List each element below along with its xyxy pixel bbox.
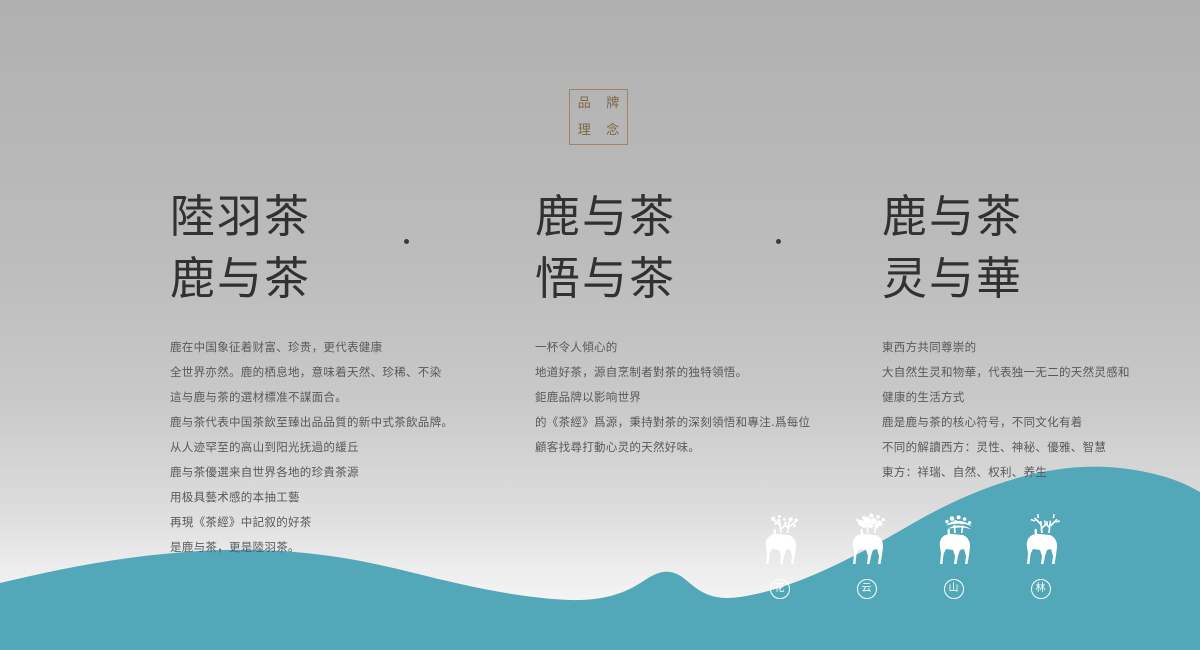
deer-label-hua: 花: [770, 579, 790, 599]
body-line: 大自然生灵和物華，代表独一无二的天然灵感和: [882, 360, 1132, 385]
deer-label-lin: 林: [1031, 579, 1051, 599]
deer-branch-icon: [754, 512, 806, 570]
body-line: 不同的解讀西方：灵性、神秘、優雅、智慧: [882, 435, 1132, 460]
column-3-headline: 鹿与茶 灵与華: [882, 186, 1132, 310]
deer-cloud-icon: [841, 512, 893, 570]
body-line: 鹿与茶優選来自世界各地的珍貴茶源: [170, 460, 460, 485]
headline-line: 陸羽茶: [170, 186, 460, 248]
column-2-body: 一杯令人傾心的 地道好茶，源自烹制者對茶的独特領悟。 鉅鹿品牌以影响世界 的《茶…: [535, 335, 825, 460]
deer-item-lin[interactable]: 林: [1013, 512, 1068, 599]
body-line: 鹿在中国象征着财富、珍贵，更代表健康: [170, 335, 460, 360]
deer-item-shan[interactable]: 山: [926, 512, 981, 599]
body-line: 東方：祥瑞、自然、权利、养生: [882, 460, 1132, 485]
body-line: 从人迹罕至的高山到阳光抚過的緩丘: [170, 435, 460, 460]
deer-icon-row: 花 云: [752, 512, 1068, 599]
content-column-3: 鹿与茶 灵与華 東西方共同尊崇的 大自然生灵和物華，代表独一无二的天然灵感和 健…: [882, 186, 1132, 485]
body-line: 的《茶經》爲源，秉持對茶的深刻領悟和專注.爲每位: [535, 410, 825, 435]
column-1-body: 鹿在中国象征着财富、珍贵，更代表健康 全世界亦然。鹿的栖息地，意味着天然、珍稀、…: [170, 335, 460, 560]
body-line: 地道好茶，源自烹制者對茶的独特領悟。: [535, 360, 825, 385]
deer-item-hua[interactable]: 花: [752, 512, 807, 599]
body-line: 用极具藝术感的本抽工藝: [170, 485, 460, 510]
deer-label-shan: 山: [944, 579, 964, 599]
divider-dot-2: [776, 239, 781, 244]
column-1-headline: 陸羽茶 鹿与茶: [170, 186, 460, 310]
column-2-headline: 鹿与茶 悟与茶: [535, 186, 825, 310]
body-line: 再現《茶經》中記叙的好茶: [170, 510, 460, 535]
headline-line: 鹿与茶: [535, 186, 825, 248]
body-line: 一杯令人傾心的: [535, 335, 825, 360]
deer-mountain-icon: [928, 512, 980, 570]
body-line: 鉅鹿品牌以影响世界: [535, 385, 825, 410]
content-column-2: 鹿与茶 悟与茶 一杯令人傾心的 地道好茶，源自烹制者對茶的独特領悟。 鉅鹿品牌以…: [535, 186, 825, 460]
headline-line: 灵与華: [882, 248, 1132, 310]
body-line: 健康的生活方式: [882, 385, 1132, 410]
deer-label-yun: 云: [857, 579, 877, 599]
divider-dot-1: [404, 239, 409, 244]
column-3-body: 東西方共同尊崇的 大自然生灵和物華，代表独一无二的天然灵感和 健康的生活方式 鹿…: [882, 335, 1132, 485]
body-line: 全世界亦然。鹿的栖息地，意味着天然、珍稀、不染: [170, 360, 460, 385]
body-line: 這与鹿与茶的選材標准不謀面合。: [170, 385, 460, 410]
body-line: 鹿与茶代表中国茶飲至臻出品品質的新中式茶飲品牌。: [170, 410, 460, 435]
content-column-1: 陸羽茶 鹿与茶 鹿在中国象征着财富、珍贵，更代表健康 全世界亦然。鹿的栖息地，意…: [170, 186, 460, 560]
body-line: 顧客找尋打動心灵的天然好味。: [535, 435, 825, 460]
body-line: 東西方共同尊崇的: [882, 335, 1132, 360]
headline-line: 鹿与茶: [882, 186, 1132, 248]
headline-line: 悟与茶: [535, 248, 825, 310]
deer-forest-icon: [1015, 512, 1067, 570]
headline-line: 鹿与茶: [170, 248, 460, 310]
body-line: 鹿是鹿与茶的核心符号，不同文化有着: [882, 410, 1132, 435]
body-line: 是鹿与茶，更是陸羽茶。: [170, 535, 460, 560]
deer-item-yun[interactable]: 云: [839, 512, 894, 599]
